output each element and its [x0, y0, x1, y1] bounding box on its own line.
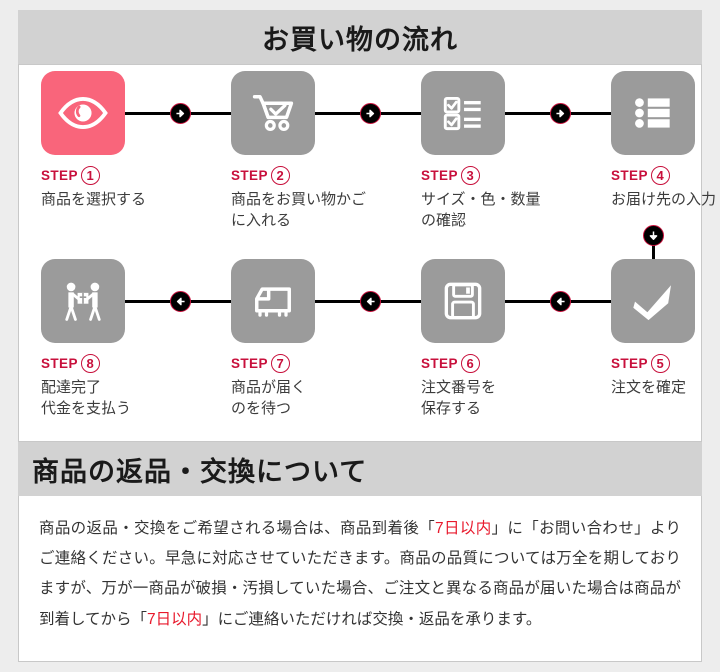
step-3-text: サイズ・色・数量 の確認 [421, 189, 581, 232]
returns-highlight-2: 7日以内 [147, 611, 202, 628]
step-word: STEP [231, 168, 268, 183]
step-5-label: STEP 5 [611, 354, 720, 373]
returns-paragraph: 商品の返品・交換をご希望される場合は、商品到着後「7日以内」に「お問い合わせ」よ… [19, 496, 701, 635]
handoff-icon [57, 275, 109, 327]
flow-step-2[interactable]: STEP 2 商品をお買い物かご に入れる [231, 71, 391, 232]
step-word: STEP [611, 168, 648, 183]
arrow-right-icon-2 [360, 103, 381, 124]
step-6-label: STEP 6 [421, 354, 581, 373]
step-2-text: 商品をお買い物かご に入れる [231, 189, 391, 232]
step-7-tile [231, 259, 315, 343]
step-word: STEP [421, 168, 458, 183]
step-5-tile [611, 259, 695, 343]
step-4-tile [611, 71, 695, 155]
floppy-disk-icon [438, 276, 488, 326]
step-3-tile [421, 71, 505, 155]
step-8-tile [41, 259, 125, 343]
flow-step-8[interactable]: STEP 8 配達完了 代金を支払う [41, 259, 201, 420]
flow-diagram-panel: STEP 1 商品を選択する STEP [18, 64, 702, 442]
step-4-text: お届け先の入力 [611, 189, 720, 210]
flow-row-top: STEP 1 商品を選択する STEP [19, 71, 701, 251]
step-1-text: 商品を選択する [41, 189, 201, 210]
step-number: 8 [81, 354, 100, 373]
step-1-tile [41, 71, 125, 155]
returns-text-part-3: 」にご連絡いただければ交換・返品を承ります。 [202, 611, 541, 628]
step-number: 5 [651, 354, 670, 373]
flow-row-bottom: STEP 8 配達完了 代金を支払う STEP 7 [19, 259, 701, 439]
flow-title: お買い物の流れ [262, 18, 458, 57]
step-number: 6 [461, 354, 480, 373]
step-4-label: STEP 4 [611, 166, 720, 185]
flow-step-3[interactable]: STEP 3 サイズ・色・数量 の確認 [421, 71, 581, 232]
step-3-label: STEP 3 [421, 166, 581, 185]
step-word: STEP [421, 356, 458, 371]
eye-icon [56, 86, 110, 140]
step-6-text: 注文番号を 保存する [421, 377, 581, 420]
arrow-left-icon-2 [360, 291, 381, 312]
arrow-down-icon [643, 225, 664, 246]
step-5-text: 注文を確定 [611, 377, 720, 398]
step-8-label: STEP 8 [41, 354, 201, 373]
step-6-tile [421, 259, 505, 343]
arrow-left-icon-1 [170, 291, 191, 312]
step-8-text: 配達完了 代金を支払う [41, 377, 201, 420]
flow-step-7[interactable]: STEP 7 商品が届く のを待つ [231, 259, 391, 420]
arrow-left-icon-3 [550, 291, 571, 312]
step-7-text: 商品が届く のを待つ [231, 377, 391, 420]
flow-step-5[interactable]: STEP 5 注文を確定 [611, 259, 720, 398]
step-2-tile [231, 71, 315, 155]
step-word: STEP [231, 356, 268, 371]
step-word: STEP [41, 356, 78, 371]
returns-text-part-1: 商品の返品・交換をご希望される場合は、商品到着後「 [39, 520, 435, 537]
flow-step-4[interactable]: STEP 4 お届け先の入力 [611, 71, 720, 210]
returns-title-banner: 商品の返品・交換について [18, 442, 702, 496]
truck-icon [247, 275, 299, 327]
step-number: 1 [81, 166, 100, 185]
flow-title-banner: お買い物の流れ [18, 10, 702, 64]
step-2-label: STEP 2 [231, 166, 391, 185]
shopping-flow-page: お買い物の流れ [0, 10, 720, 672]
flow-step-6[interactable]: STEP 6 注文番号を 保存する [421, 259, 581, 420]
step-number: 2 [271, 166, 290, 185]
step-7-label: STEP 7 [231, 354, 391, 373]
arrow-right-icon-3 [550, 103, 571, 124]
flow-step-1[interactable]: STEP 1 商品を選択する [41, 71, 201, 210]
returns-highlight-1: 7日以内 [435, 520, 492, 537]
step-word: STEP [611, 356, 648, 371]
step-number: 4 [651, 166, 670, 185]
check-icon [626, 274, 680, 328]
arrow-right-icon-1 [170, 103, 191, 124]
step-number: 3 [461, 166, 480, 185]
step-word: STEP [41, 168, 78, 183]
cart-icon [247, 87, 299, 139]
list-icon [628, 88, 678, 138]
step-number: 7 [271, 354, 290, 373]
returns-policy-panel: 商品の返品・交換をご希望される場合は、商品到着後「7日以内」に「お問い合わせ」よ… [18, 496, 702, 662]
checklist-icon [438, 88, 488, 138]
step-1-label: STEP 1 [41, 166, 201, 185]
returns-title: 商品の返品・交換について [32, 450, 367, 489]
